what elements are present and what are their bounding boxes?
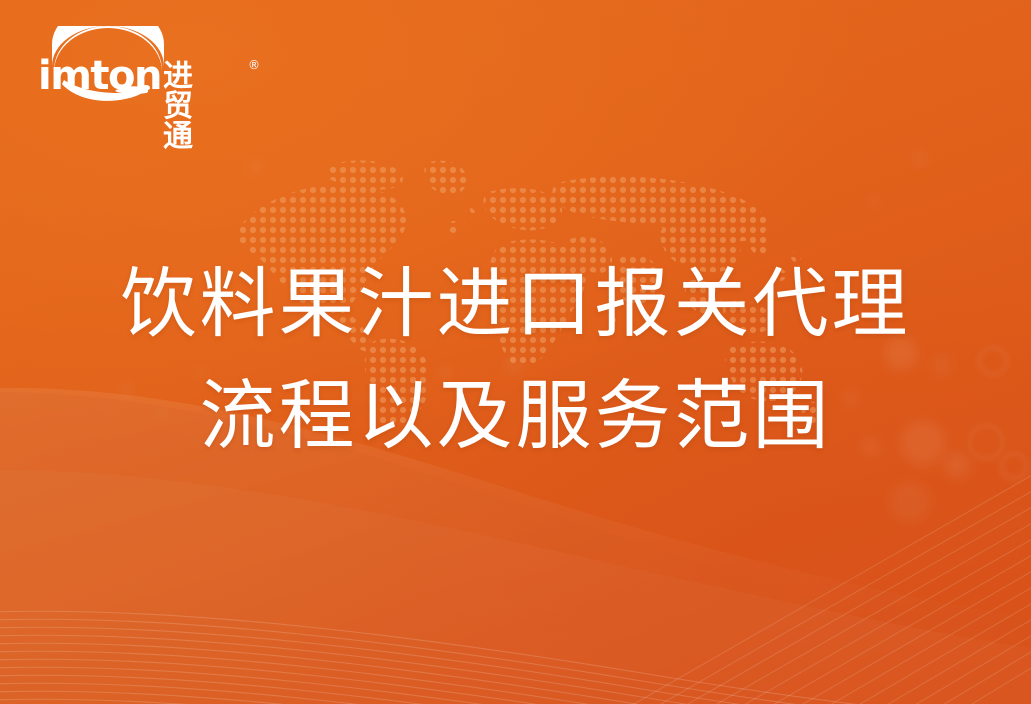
- title-line-2: 流程以及服务范围: [0, 360, 1031, 472]
- bokeh-dot: [890, 482, 930, 522]
- bokeh-dot: [248, 160, 262, 174]
- title-line-1: 饮料果汁进口报关代理: [0, 248, 1031, 360]
- logo-chinese-name: 进贸通: [163, 62, 218, 152]
- logo-trademark-symbol: ®: [248, 58, 260, 72]
- imton-logo[interactable]: imton 进贸通 ®: [38, 26, 218, 106]
- logo-wordmark: imton: [38, 56, 161, 96]
- bokeh-dot: [912, 150, 928, 166]
- poster-banner: imton 进贸通 ® 饮料果汁进口报关代理 流程以及服务范围: [0, 0, 1031, 704]
- bokeh-dot: [868, 196, 880, 208]
- page-title: 饮料果汁进口报关代理 流程以及服务范围: [0, 248, 1031, 472]
